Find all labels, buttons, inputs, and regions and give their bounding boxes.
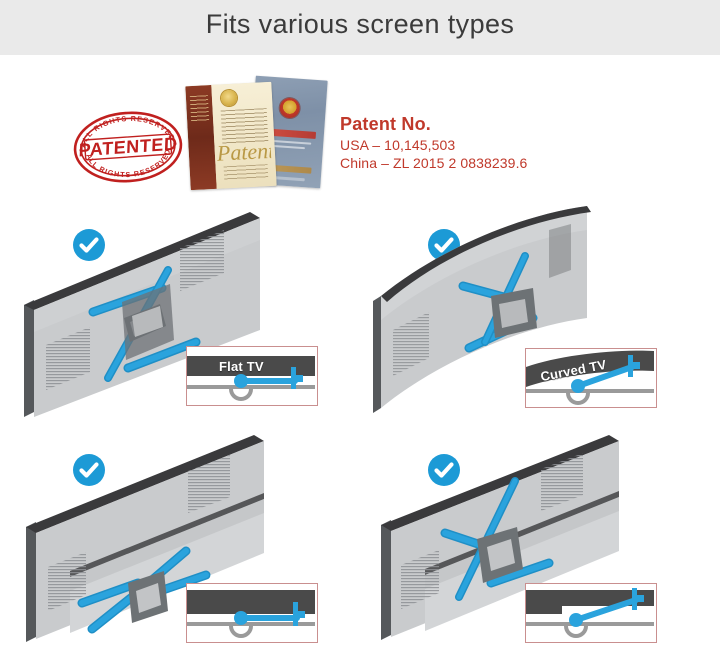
us-cert-strip-text: [190, 95, 209, 122]
panel-recessed-back-tv: [10, 425, 360, 650]
patent-number-block: Patent No. USA – 10,145,503 China – ZL 2…: [340, 114, 527, 172]
inset-thick-back-tv: [525, 583, 657, 643]
patent-number-china: China – ZL 2015 2 0838239.6: [340, 154, 527, 172]
panel-flat-tv: Flat TV: [10, 200, 360, 425]
inset-recessed-tv: [186, 583, 318, 643]
inset-flat-tv: Flat TV: [186, 346, 318, 406]
panel-curved-tv: Curved TV: [365, 200, 715, 425]
patent-number-usa: USA – 10,145,503: [340, 136, 527, 154]
page-root: Fits various screen types ALL RIGHTS RES…: [0, 0, 720, 650]
inset-curved-tv: Curved TV: [525, 348, 657, 408]
panel-thick-back-tv: [365, 425, 715, 650]
china-emblem-icon: [279, 97, 300, 118]
us-cert-script-word: Patent: [216, 138, 271, 167]
us-patent-certificate: Patent: [185, 82, 276, 190]
patented-stamp: ALL RIGHTS RESERVED ALL RIGHTS RESERVED …: [72, 110, 184, 184]
patent-number-heading: Patent No.: [340, 114, 527, 134]
us-cert-footer-lines: [224, 164, 269, 180]
page-title: Fits various screen types: [0, 9, 720, 40]
patent-section: ALL RIGHTS RESERVED ALL RIGHTS RESERVED …: [0, 62, 720, 197]
patent-certificates: Patent: [186, 74, 332, 192]
